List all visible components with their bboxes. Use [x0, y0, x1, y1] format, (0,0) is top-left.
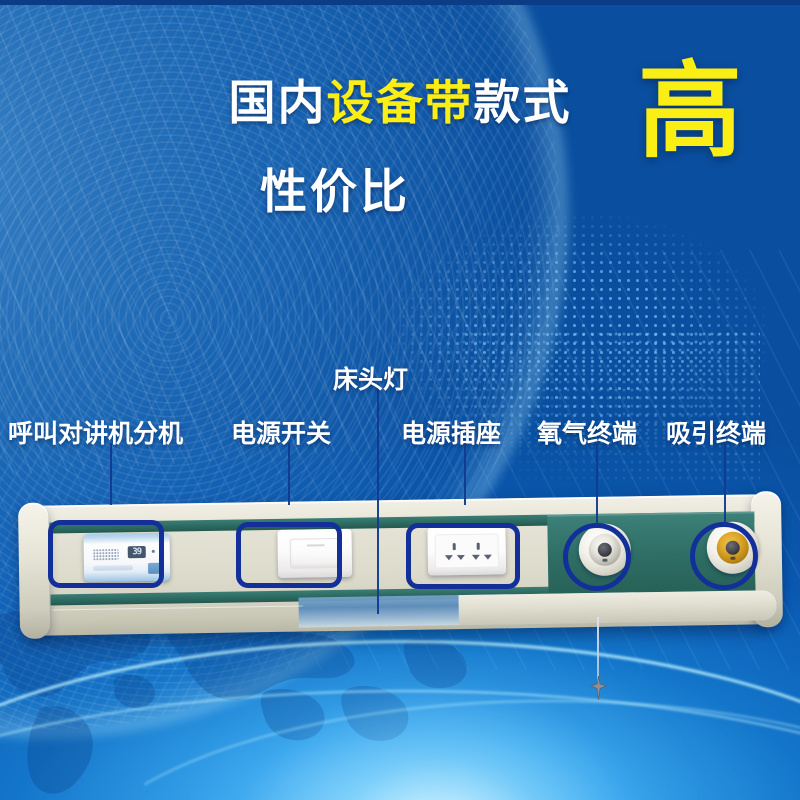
leader-line-power-socket	[464, 443, 466, 505]
callout-label-power-socket: 电源插座	[401, 414, 501, 450]
promo-banner: 国内设备带款式 性价比 高 呼叫对讲机分机 电源开关 床头灯 电源插座 氧气终端…	[0, 0, 800, 800]
top-border-strip	[0, 0, 800, 5]
callout-label-suction-terminal: 吸引终端	[666, 414, 766, 450]
leader-line-bed-head-lamp	[377, 389, 379, 614]
callout-label-nurse-call-intercom: 呼叫对讲机分机	[8, 414, 183, 450]
callout-label-bed-head-lamp: 床头灯	[333, 360, 408, 396]
callout-label-oxygen-terminal: 氧气终端	[537, 414, 637, 450]
leader-line-oxygen-terminal	[596, 443, 598, 525]
callout-label-power-switch: 电源开关	[231, 414, 331, 450]
leader-line-nurse-call-intercom	[110, 443, 112, 505]
leader-line-power-switch	[288, 443, 290, 505]
leader-line-suction-terminal	[724, 443, 726, 525]
callout-layer: 呼叫对讲机分机 电源开关 床头灯 电源插座 氧气终端 吸引终端	[0, 0, 800, 800]
